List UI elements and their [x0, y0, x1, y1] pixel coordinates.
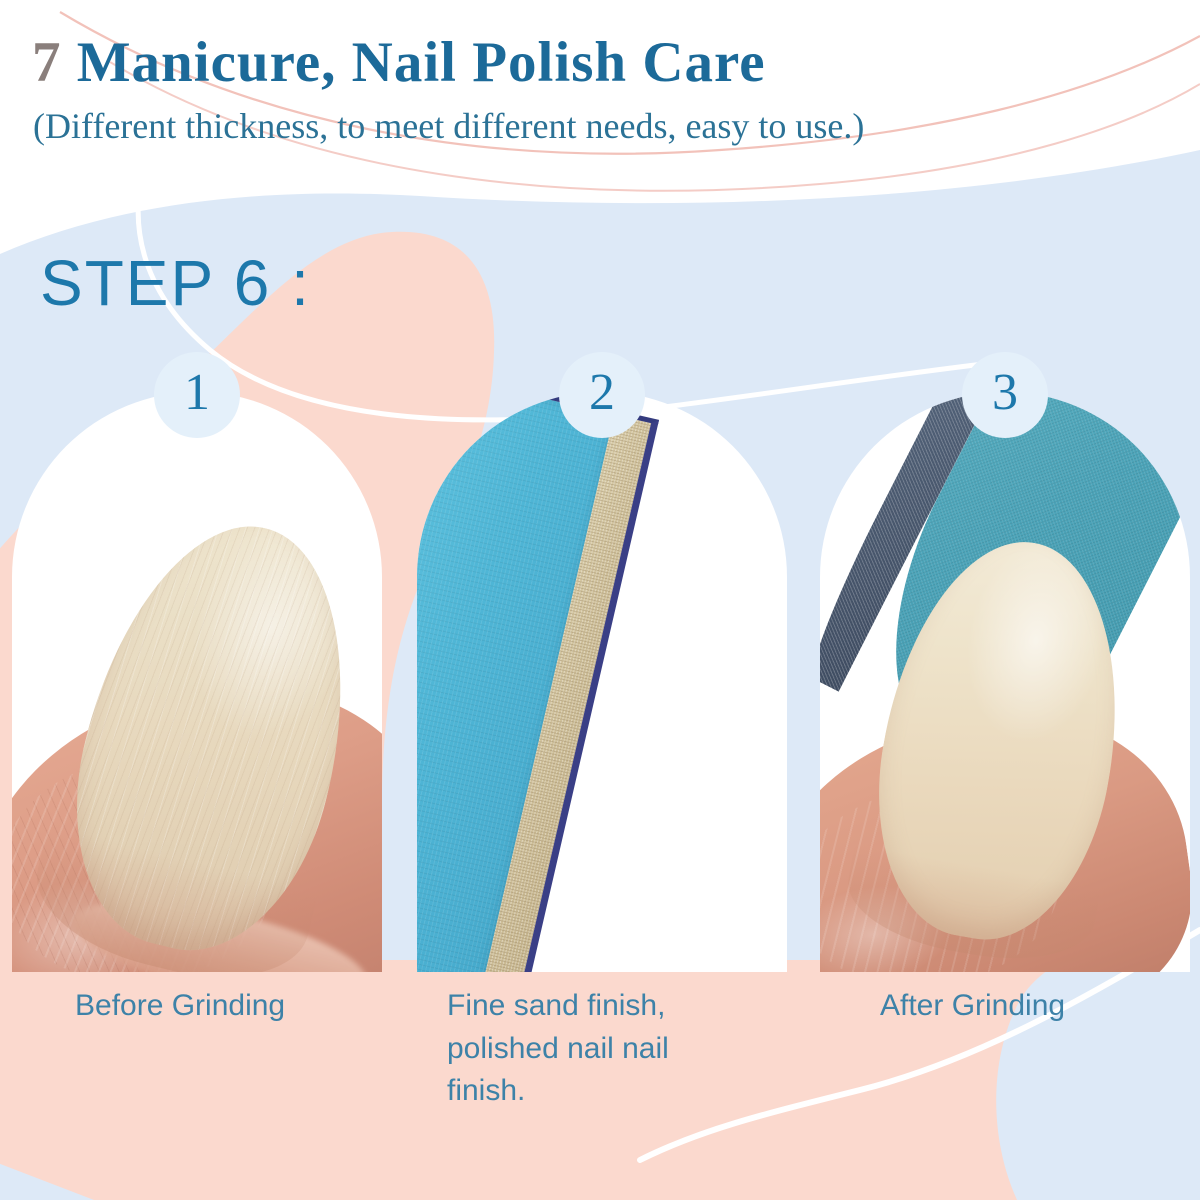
caption-1: Before Grinding — [75, 985, 285, 1028]
step-badge-3: 3 — [962, 352, 1048, 438]
nail-buffer-block: STE — [417, 392, 660, 972]
photo-after-grinding — [820, 392, 1190, 972]
panel-3: 3 — [820, 392, 1190, 972]
photo-card-3 — [820, 392, 1190, 972]
step-badge-2: 2 — [559, 352, 645, 438]
badge-number-1: 1 — [184, 367, 210, 419]
page-title: 7 Manicure, Nail Polish Care — [32, 30, 766, 95]
title-rest: Manicure, Nail Polish Care — [62, 31, 766, 94]
step-badge-1: 1 — [154, 352, 240, 438]
photo-buffer-block: STE — [417, 392, 787, 972]
caption-3: After Grinding — [880, 985, 1065, 1028]
product-infographic: 7 Manicure, Nail Polish Care (Different … — [0, 0, 1200, 1200]
photo-card-1 — [12, 392, 382, 972]
panel-1: 1 — [12, 392, 382, 972]
header: 7 Manicure, Nail Polish Care (Different … — [0, 0, 1200, 190]
title-number: 7 — [32, 31, 62, 94]
photo-before-grinding — [12, 392, 382, 972]
badge-number-3: 3 — [992, 367, 1018, 419]
step-heading: STEP 6 : — [40, 246, 311, 320]
page-subtitle: (Different thickness, to meet different … — [33, 105, 864, 147]
caption-2: Fine sand finish, polished nail nail fin… — [447, 985, 747, 1113]
badge-number-2: 2 — [589, 367, 615, 419]
panel-2: STE 2 — [417, 392, 787, 972]
photo-card-2: STE — [417, 392, 787, 972]
